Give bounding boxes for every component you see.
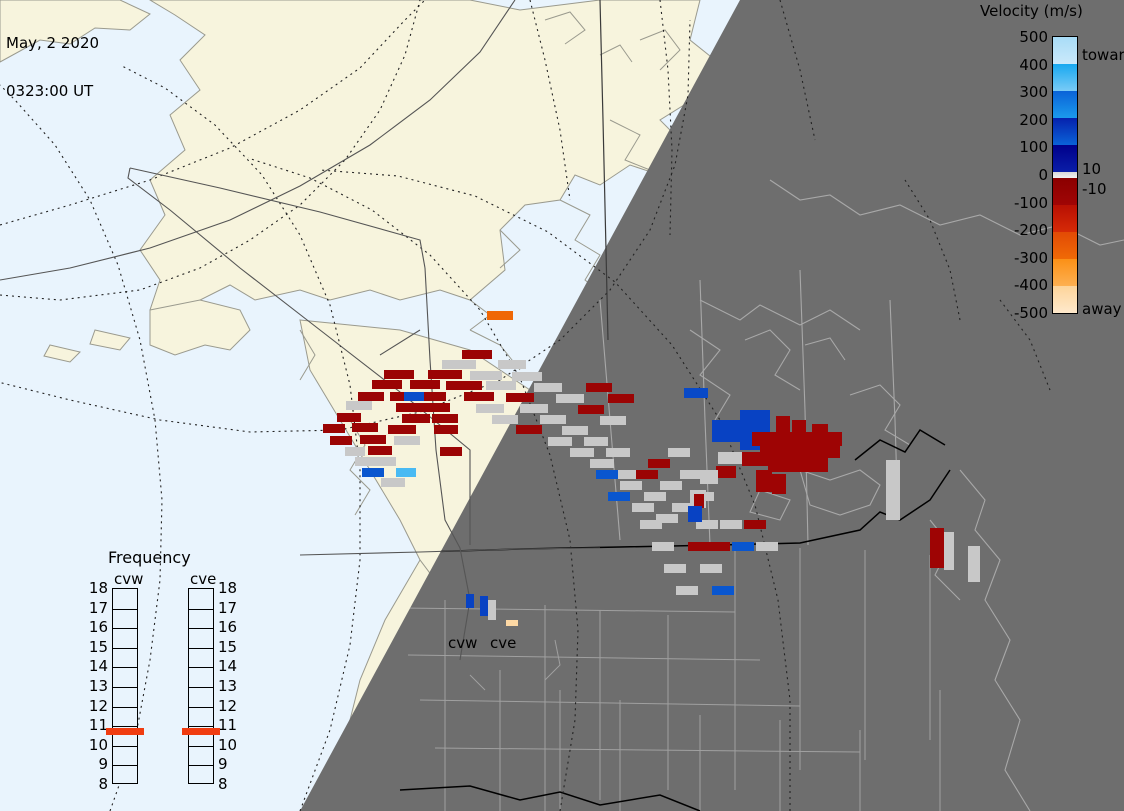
colorbar-tick-label: 0 — [996, 166, 1048, 184]
frequency-column-label-cve: cve — [190, 570, 216, 588]
frequency-gauge-division — [189, 648, 213, 649]
frequency-tick-label-right: 14 — [218, 657, 242, 675]
frequency-gauge-division — [189, 667, 213, 668]
radar-cell[interactable] — [480, 596, 488, 616]
colorbar-band — [1053, 118, 1077, 145]
colorbar-band — [1053, 91, 1077, 118]
time-label: 0323:00 UT — [6, 83, 99, 99]
radar-cell[interactable] — [428, 370, 462, 379]
radar-cell[interactable] — [402, 414, 430, 423]
colorbar-tick-label: 100 — [996, 138, 1048, 156]
frequency-tick-label-left: 16 — [84, 618, 108, 636]
frequency-gauge-cvw[interactable] — [112, 588, 138, 784]
frequency-tick-label-left: 17 — [84, 599, 108, 617]
frequency-gauge-division — [189, 609, 213, 610]
radar-cell[interactable] — [812, 424, 828, 470]
radar-cell[interactable] — [648, 459, 670, 468]
radar-cell[interactable] — [368, 446, 392, 455]
radar-cell[interactable] — [360, 435, 386, 444]
site-label-cvw: cvw — [448, 634, 477, 652]
radar-cell[interactable] — [396, 468, 416, 477]
radar-cell[interactable] — [608, 394, 634, 403]
colorbar-plus-ten-label: 10 — [1082, 160, 1101, 178]
radar-cell[interactable] — [410, 380, 440, 389]
frequency-gauge-division — [189, 687, 213, 688]
frequency-tick-label-left: 15 — [84, 638, 108, 656]
frequency-tick-label-left: 11 — [84, 716, 108, 734]
radar-cell[interactable] — [432, 414, 458, 423]
radar-cell[interactable] — [540, 415, 566, 424]
radar-cell[interactable] — [462, 350, 492, 359]
radar-cell[interactable] — [506, 620, 518, 626]
radar-cell[interactable] — [512, 372, 542, 381]
frequency-tick-label-right: 17 — [218, 599, 242, 617]
colorbar-minus-ten-label: -10 — [1082, 180, 1107, 198]
radar-cell[interactable] — [584, 437, 608, 446]
radar-cell[interactable] — [466, 594, 474, 608]
radar-cell[interactable] — [886, 460, 900, 520]
radar-cell[interactable] — [440, 447, 462, 456]
radar-cell[interactable] — [668, 448, 690, 457]
radar-cell[interactable] — [600, 416, 626, 425]
frequency-gauge-division — [113, 648, 137, 649]
radar-cell[interactable] — [362, 468, 384, 477]
frequency-tick-label-left: 10 — [84, 736, 108, 754]
radar-cell[interactable] — [470, 371, 502, 380]
colorbar-title: Velocity (m/s) — [980, 2, 1083, 20]
radar-cell[interactable] — [345, 447, 365, 456]
colorbar-tick-label: 200 — [996, 111, 1048, 129]
frequency-tick-label-right: 18 — [218, 579, 242, 597]
radar-cell[interactable] — [744, 520, 766, 529]
frequency-tick-label-left: 12 — [84, 697, 108, 715]
radar-cell[interactable] — [732, 542, 754, 551]
timestamp-block: May, 2 2020 0323:00 UT — [6, 3, 99, 131]
radar-cell[interactable] — [620, 481, 642, 490]
radar-cell[interactable] — [720, 520, 742, 529]
colorbar-away-label: away — [1082, 300, 1122, 318]
radar-cell[interactable] — [498, 360, 526, 369]
colorbar-tick-label: 300 — [996, 83, 1048, 101]
radar-cell[interactable] — [608, 492, 630, 501]
radar-cell[interactable] — [372, 380, 402, 389]
colorbar-band — [1053, 145, 1077, 172]
radar-cell[interactable] — [680, 470, 702, 479]
radar-cell[interactable] — [570, 448, 594, 457]
colorbar-toward-label: toward — [1082, 46, 1124, 64]
frequency-tick-label-left: 13 — [84, 677, 108, 695]
radar-cell[interactable] — [520, 404, 548, 413]
frequency-marker-cve — [182, 728, 220, 735]
radar-cell[interactable] — [346, 401, 372, 410]
radar-cell[interactable] — [590, 459, 614, 468]
radar-cell[interactable] — [712, 586, 734, 595]
colorbar-band — [1053, 205, 1077, 232]
colorbar-band — [1053, 286, 1077, 313]
colorbar-tick-label: -200 — [996, 221, 1048, 239]
date-label: May, 2 2020 — [6, 35, 99, 51]
radar-cell[interactable] — [534, 383, 562, 392]
radar-cell[interactable] — [476, 404, 504, 413]
radar-cell[interactable] — [596, 470, 618, 479]
frequency-gauge-division — [113, 726, 137, 727]
radar-cell[interactable] — [712, 420, 742, 442]
frequency-tick-label-right: 13 — [218, 677, 242, 695]
radar-cell[interactable] — [381, 478, 405, 487]
radar-cell[interactable] — [516, 425, 542, 434]
radar-cell[interactable] — [506, 393, 534, 402]
radar-cell[interactable] — [660, 481, 682, 490]
radar-cell[interactable] — [636, 470, 658, 479]
colorbar-band — [1053, 259, 1077, 286]
frequency-tick-label-right: 11 — [218, 716, 242, 734]
radar-cell[interactable] — [640, 520, 662, 529]
radar-cell[interactable] — [562, 426, 588, 435]
frequency-title: Frequency — [108, 548, 191, 567]
radar-cell[interactable] — [422, 403, 450, 412]
frequency-column-label-cvw: cvw — [114, 570, 143, 588]
frequency-tick-label-right: 15 — [218, 638, 242, 656]
radar-cell[interactable] — [688, 506, 702, 522]
radar-cell[interactable] — [358, 392, 384, 401]
radar-cell[interactable] — [708, 542, 730, 551]
frequency-gauge-division — [189, 726, 213, 727]
radar-cell[interactable] — [632, 503, 654, 512]
radar-cell[interactable] — [556, 394, 584, 403]
radar-cell[interactable] — [492, 415, 518, 424]
radar-cell[interactable] — [776, 416, 790, 466]
frequency-gauge-division — [113, 746, 137, 747]
frequency-gauge-division — [189, 765, 213, 766]
frequency-gauge-division — [189, 707, 213, 708]
frequency-marker-cvw — [106, 728, 144, 735]
colorbar-band — [1053, 64, 1077, 91]
colorbar-band — [1053, 232, 1077, 259]
radar-cell[interactable] — [388, 425, 416, 434]
frequency-gauge-division — [113, 628, 137, 629]
frequency-panel: Frequency cvw cve 18171615141312111098 1… — [86, 548, 236, 788]
frequency-gauge-cve[interactable] — [188, 588, 214, 784]
colorbar-tick-label: 500 — [996, 28, 1048, 46]
frequency-tick-label-right: 12 — [218, 697, 242, 715]
frequency-tick-label-left: 9 — [84, 755, 108, 773]
radar-cell[interactable] — [718, 452, 742, 464]
colorbar-gradient[interactable] — [1052, 36, 1078, 314]
frequency-tick-label-right: 8 — [218, 775, 242, 793]
radar-cell[interactable] — [756, 542, 778, 551]
radar-cell[interactable] — [684, 388, 708, 398]
radar-cell[interactable] — [586, 383, 612, 392]
radar-cell[interactable] — [404, 392, 424, 401]
frequency-gauge-division — [113, 687, 137, 688]
radar-cell[interactable] — [374, 457, 396, 466]
frequency-gauge-division — [113, 609, 137, 610]
radar-cell[interactable] — [700, 564, 722, 573]
colorbar-tick-label: 400 — [996, 56, 1048, 74]
radar-cell[interactable] — [337, 413, 361, 422]
radar-cell[interactable] — [930, 528, 944, 568]
colorbar-tick-label: -400 — [996, 276, 1048, 294]
radar-cell[interactable] — [792, 420, 806, 466]
frequency-tick-label-left: 18 — [84, 579, 108, 597]
radar-cell[interactable] — [756, 470, 772, 492]
radar-cell[interactable] — [944, 532, 954, 570]
radar-cell[interactable] — [442, 360, 476, 369]
site-label-cve: cve — [490, 634, 516, 652]
radar-cell[interactable] — [323, 424, 345, 433]
radar-cell[interactable] — [664, 564, 686, 573]
colorbar-tick-label: -100 — [996, 194, 1048, 212]
frequency-gauge-division — [189, 746, 213, 747]
radar-cell[interactable] — [688, 542, 710, 551]
radar-cell[interactable] — [446, 381, 482, 390]
radar-cell[interactable] — [676, 586, 698, 595]
frequency-gauge-division — [189, 628, 213, 629]
radar-cell[interactable] — [606, 448, 630, 457]
frequency-tick-label-right: 9 — [218, 755, 242, 773]
radar-cell[interactable] — [694, 494, 704, 508]
frequency-gauge-division — [113, 707, 137, 708]
frequency-gauge-division — [113, 765, 137, 766]
radar-cell[interactable] — [772, 474, 786, 494]
radar-cell[interactable] — [488, 600, 496, 620]
colorbar-tick-label: -300 — [996, 249, 1048, 267]
radar-cell[interactable] — [700, 470, 718, 484]
radar-cell[interactable] — [352, 423, 378, 432]
radar-cell[interactable] — [716, 466, 736, 478]
radar-cell[interactable] — [652, 542, 674, 551]
colorbar-band — [1053, 37, 1077, 64]
colorbar-band — [1053, 178, 1077, 205]
radar-cell[interactable] — [578, 405, 604, 414]
radar-cell[interactable] — [394, 436, 420, 445]
frequency-gauge-division — [113, 667, 137, 668]
radar-cell[interactable] — [464, 392, 494, 401]
frequency-tick-label-left: 8 — [84, 775, 108, 793]
radar-cell[interactable] — [384, 370, 414, 379]
radar-cell[interactable] — [486, 381, 516, 390]
radar-cell[interactable] — [548, 437, 572, 446]
radar-cell[interactable] — [330, 436, 352, 445]
superdarn-map-window: cvw cve May, 2 2020 0323:00 UT Velocity … — [0, 0, 1124, 811]
radar-cell[interactable] — [487, 311, 513, 320]
frequency-tick-label-left: 14 — [84, 657, 108, 675]
radar-cell[interactable] — [968, 546, 980, 582]
radar-cell[interactable] — [396, 403, 426, 412]
radar-cell[interactable] — [644, 492, 666, 501]
radar-cell[interactable] — [434, 425, 458, 434]
colorbar-tick-label: -500 — [996, 304, 1048, 322]
frequency-tick-label-right: 16 — [218, 618, 242, 636]
frequency-tick-label-right: 10 — [218, 736, 242, 754]
